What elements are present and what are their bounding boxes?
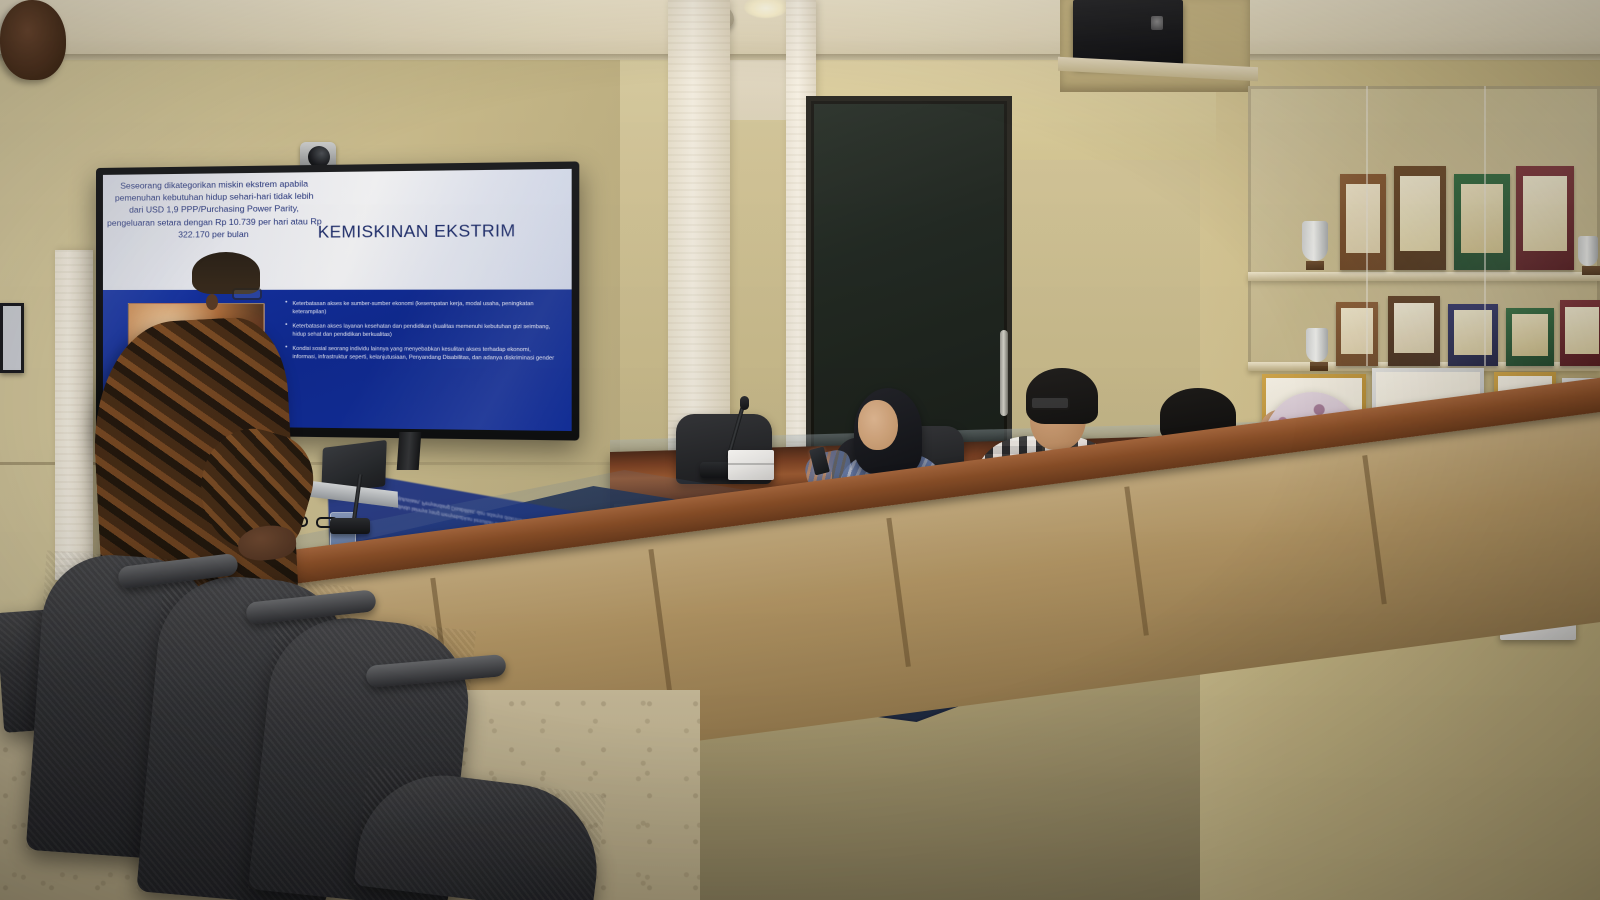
tv-stand [397,432,422,470]
slide-title: KEMISKINAN EKSTRIM [318,221,567,242]
cabinet-mullion [1484,86,1486,366]
award-plaque [1516,166,1574,270]
meeting-room-photo: Seseorang dikategorikan miskin ekstrem a… [0,0,1600,900]
trophy-cup [1306,328,1328,362]
award-plaque [1454,174,1510,270]
wall-pilaster [668,0,730,480]
trophy-cup [1578,236,1598,266]
microphone-base [330,518,370,534]
award-plaque [1388,296,1440,366]
slide-bullet-item: Keterbatasan akses ke sumber-sumber ekon… [285,300,557,318]
wall-speaker-icon [1073,0,1183,66]
presenter [0,0,66,80]
award-plaque [1506,308,1554,366]
wall-picture-frame [0,303,24,373]
trophy-cup [1302,221,1328,261]
award-plaque [1340,174,1386,270]
award-plaque [1448,304,1498,366]
slide-definition-text: Seseorang dikategorikan miskin ekstrem a… [107,177,322,241]
eyeglasses-icon [1030,396,1070,410]
door-handle[interactable] [1000,330,1008,416]
slide-bullet-item: Kondisi sosial seorang individu lainnya … [285,344,557,363]
participant-1-face [858,400,898,450]
presenter-face [0,0,66,80]
wall-pilaster [55,250,93,580]
slide-bullet-item: Keterbatasan akses layanan kesehatan dan… [285,322,557,340]
cabinet-mullion [1366,86,1368,366]
slide-bullet-list: Keterbatasan akses ke sumber-sumber ekon… [285,300,557,368]
snack-box [728,450,774,480]
award-plaque [1394,166,1446,270]
eyeglasses-icon [232,288,262,300]
cabinet-shelf [1248,272,1600,281]
trophy-display-cabinet [1248,86,1600,366]
presenter-ear [206,294,218,310]
wall-seam [0,462,625,465]
microphone-head-icon [740,396,749,410]
award-plaque [1336,302,1378,366]
award-plaque [1560,300,1600,366]
